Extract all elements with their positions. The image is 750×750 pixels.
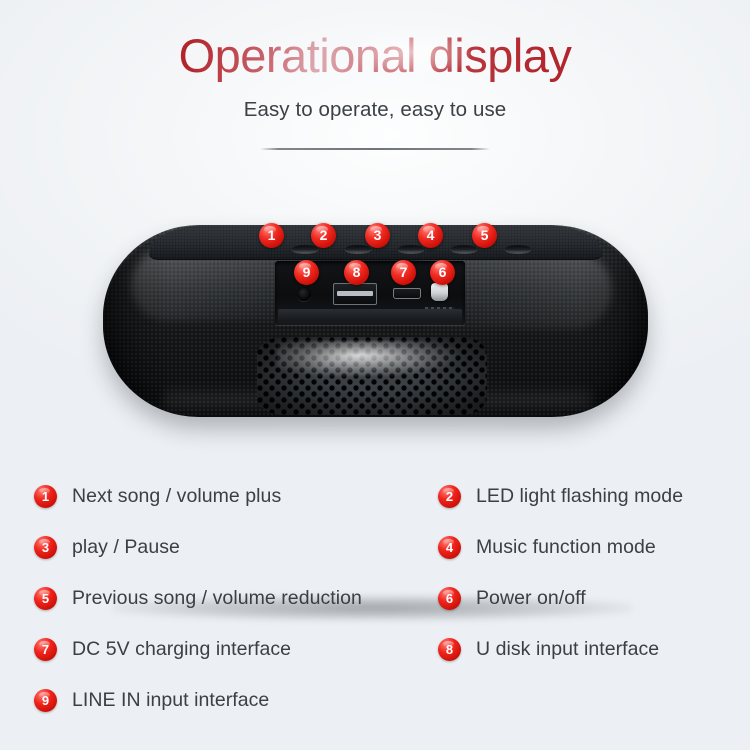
callout-badge-5: 5 <box>472 223 497 248</box>
callout-badge-7: 7 <box>391 260 416 285</box>
legend-item-9: 9LINE IN input interface <box>0 676 420 725</box>
legend-row: 1Next song / volume plus2LED light flash… <box>0 472 750 521</box>
port-micro-usb-dc5v[interactable] <box>393 288 421 299</box>
legend-row: 9LINE IN input interface <box>0 676 750 725</box>
top-button-led-mode[interactable] <box>345 245 371 253</box>
power-button[interactable] <box>431 283 448 301</box>
legend-list: 1Next song / volume plus2LED light flash… <box>0 472 750 727</box>
legend-row: 7DC 5V charging interface8U disk input i… <box>0 625 750 674</box>
legend-item-8: 8U disk input interface <box>420 625 750 674</box>
callout-badge-3: 3 <box>365 223 390 248</box>
legend-label-3: play / Pause <box>72 536 180 559</box>
legend-item-5: 5Previous song / volume reduction <box>0 574 420 623</box>
legend-label-7: DC 5V charging interface <box>72 638 291 661</box>
legend-badge-5: 5 <box>34 587 57 610</box>
speaker-driver-grille <box>257 337 487 415</box>
legend-label-8: U disk input interface <box>476 638 659 661</box>
legend-badge-1: 1 <box>34 485 57 508</box>
legend-item-3: 3play / Pause <box>0 523 420 572</box>
top-button-play-pause[interactable] <box>398 245 424 253</box>
top-button-next-song[interactable] <box>292 245 318 253</box>
port-usb-a[interactable] <box>333 283 377 305</box>
callout-badge-9: 9 <box>294 260 319 285</box>
legend-item-2: 2LED light flashing mode <box>420 472 750 521</box>
driver-vignette <box>257 337 487 415</box>
legend-row: 5Previous song / volume reduction6Power … <box>0 574 750 623</box>
legend-badge-3: 3 <box>34 536 57 559</box>
callout-badge-8: 8 <box>344 260 369 285</box>
legend-badge-6: 6 <box>438 587 461 610</box>
legend-label-5: Previous song / volume reduction <box>72 587 362 610</box>
header-divider <box>260 148 490 150</box>
legend-badge-8: 8 <box>438 638 461 661</box>
legend-badge-4: 4 <box>438 536 461 559</box>
callout-badge-6: 6 <box>430 260 455 285</box>
legend-row: 3play / Pause4Music function mode <box>0 523 750 572</box>
callout-badge-4: 4 <box>418 223 443 248</box>
legend-badge-2: 2 <box>438 485 461 508</box>
top-button-music-mode[interactable] <box>451 245 477 253</box>
product-photo: 123459876 <box>0 190 750 460</box>
legend-label-4: Music function mode <box>476 536 656 559</box>
page-subtitle: Easy to operate, easy to use <box>0 82 750 122</box>
legend-badge-7: 7 <box>34 638 57 661</box>
speaker-body <box>103 225 648 417</box>
legend-item-1: 1Next song / volume plus <box>0 472 420 521</box>
callout-badge-2: 2 <box>311 223 336 248</box>
port-line-in[interactable] <box>297 287 311 301</box>
legend-item-6: 6Power on/off <box>420 574 750 623</box>
legend-label-1: Next song / volume plus <box>72 485 281 508</box>
legend-item-4: 4Music function mode <box>420 523 750 572</box>
legend-badge-9: 9 <box>34 689 57 712</box>
header: Operational display Easy to operate, eas… <box>0 0 750 170</box>
panel-lower-lip <box>278 309 462 321</box>
infographic-page: Operational display Easy to operate, eas… <box>0 0 750 750</box>
callout-badge-1: 1 <box>259 223 284 248</box>
legend-label-2: LED light flashing mode <box>476 485 683 508</box>
legend-item-empty <box>420 676 750 725</box>
legend-label-6: Power on/off <box>476 587 586 610</box>
legend-label-9: LINE IN input interface <box>72 689 269 712</box>
legend-item-7: 7DC 5V charging interface <box>0 625 420 674</box>
top-button-previous-song[interactable] <box>505 245 531 253</box>
page-title: Operational display <box>0 0 750 82</box>
